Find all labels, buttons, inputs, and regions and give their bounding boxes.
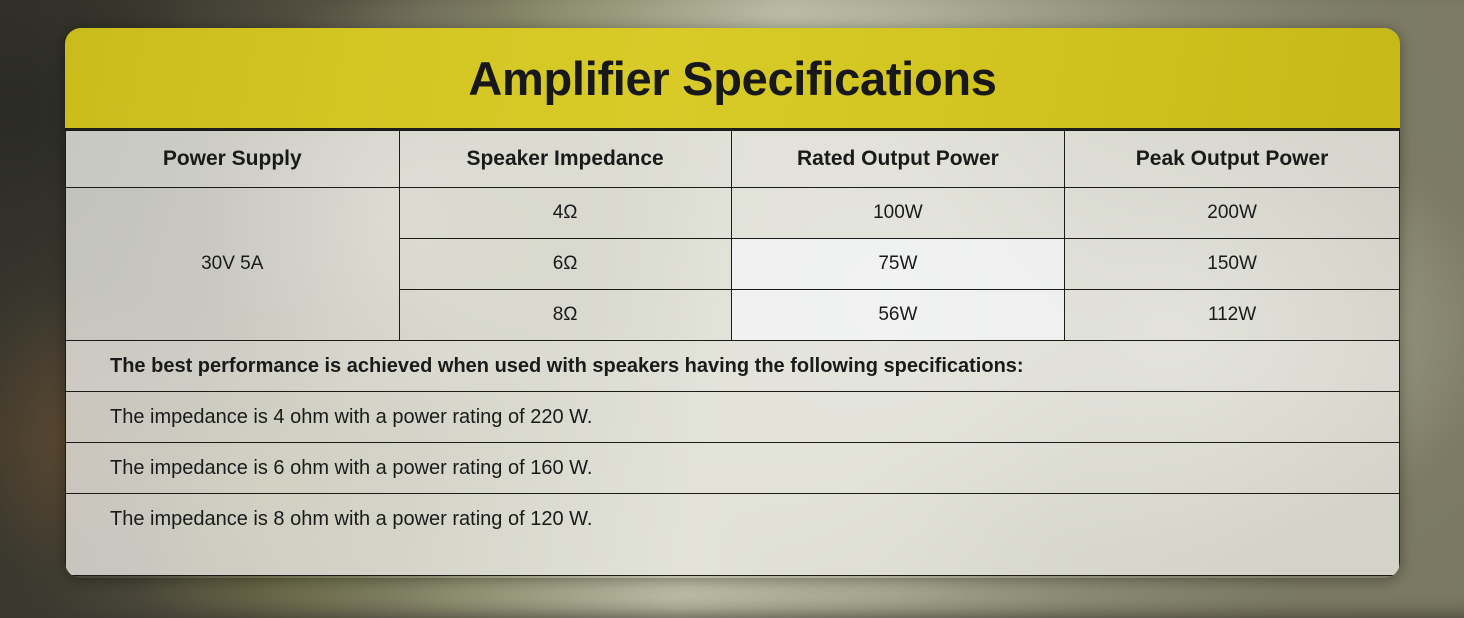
- notes-heading: The best performance is achieved when us…: [66, 341, 1400, 392]
- column-header-power-supply: Power Supply: [66, 131, 400, 188]
- card-bottom-filler: [65, 544, 1400, 576]
- cell-peak-2: 150W: [1065, 239, 1400, 290]
- note-row: The impedance is 8 ohm with a power rati…: [66, 494, 1400, 545]
- table-row: 30V 5A 4Ω 100W 200W: [66, 188, 1400, 239]
- cell-impedance-1: 4Ω: [399, 188, 731, 239]
- cell-power-supply-value: 30V 5A: [66, 188, 400, 341]
- note-row: The impedance is 6 ohm with a power rati…: [66, 443, 1400, 494]
- note-item-3: The impedance is 8 ohm with a power rati…: [66, 494, 1400, 545]
- cell-impedance-3: 8Ω: [399, 290, 731, 341]
- cell-rated-3: 56W: [731, 290, 1065, 341]
- note-item-1: The impedance is 4 ohm with a power rati…: [66, 392, 1400, 443]
- note-row: The impedance is 4 ohm with a power rati…: [66, 392, 1400, 443]
- cell-impedance-2: 6Ω: [399, 239, 731, 290]
- page-title: Amplifier Specifications: [468, 55, 996, 102]
- specification-card: Amplifier Specifications Power Supply Sp…: [65, 28, 1400, 578]
- card-header-band: Amplifier Specifications: [65, 28, 1400, 130]
- cell-rated-1: 100W: [731, 188, 1065, 239]
- notes-heading-row: The best performance is achieved when us…: [66, 341, 1400, 392]
- cell-peak-1: 200W: [1065, 188, 1400, 239]
- column-header-peak-output-power: Peak Output Power: [1065, 131, 1400, 188]
- column-header-speaker-impedance: Speaker Impedance: [399, 131, 731, 188]
- cell-peak-3: 112W: [1065, 290, 1400, 341]
- note-item-2: The impedance is 6 ohm with a power rati…: [66, 443, 1400, 494]
- table-header-row: Power Supply Speaker Impedance Rated Out…: [66, 131, 1400, 188]
- cell-rated-2: 75W: [731, 239, 1065, 290]
- specifications-table: Power Supply Speaker Impedance Rated Out…: [65, 130, 1400, 544]
- column-header-rated-output-power: Rated Output Power: [731, 131, 1065, 188]
